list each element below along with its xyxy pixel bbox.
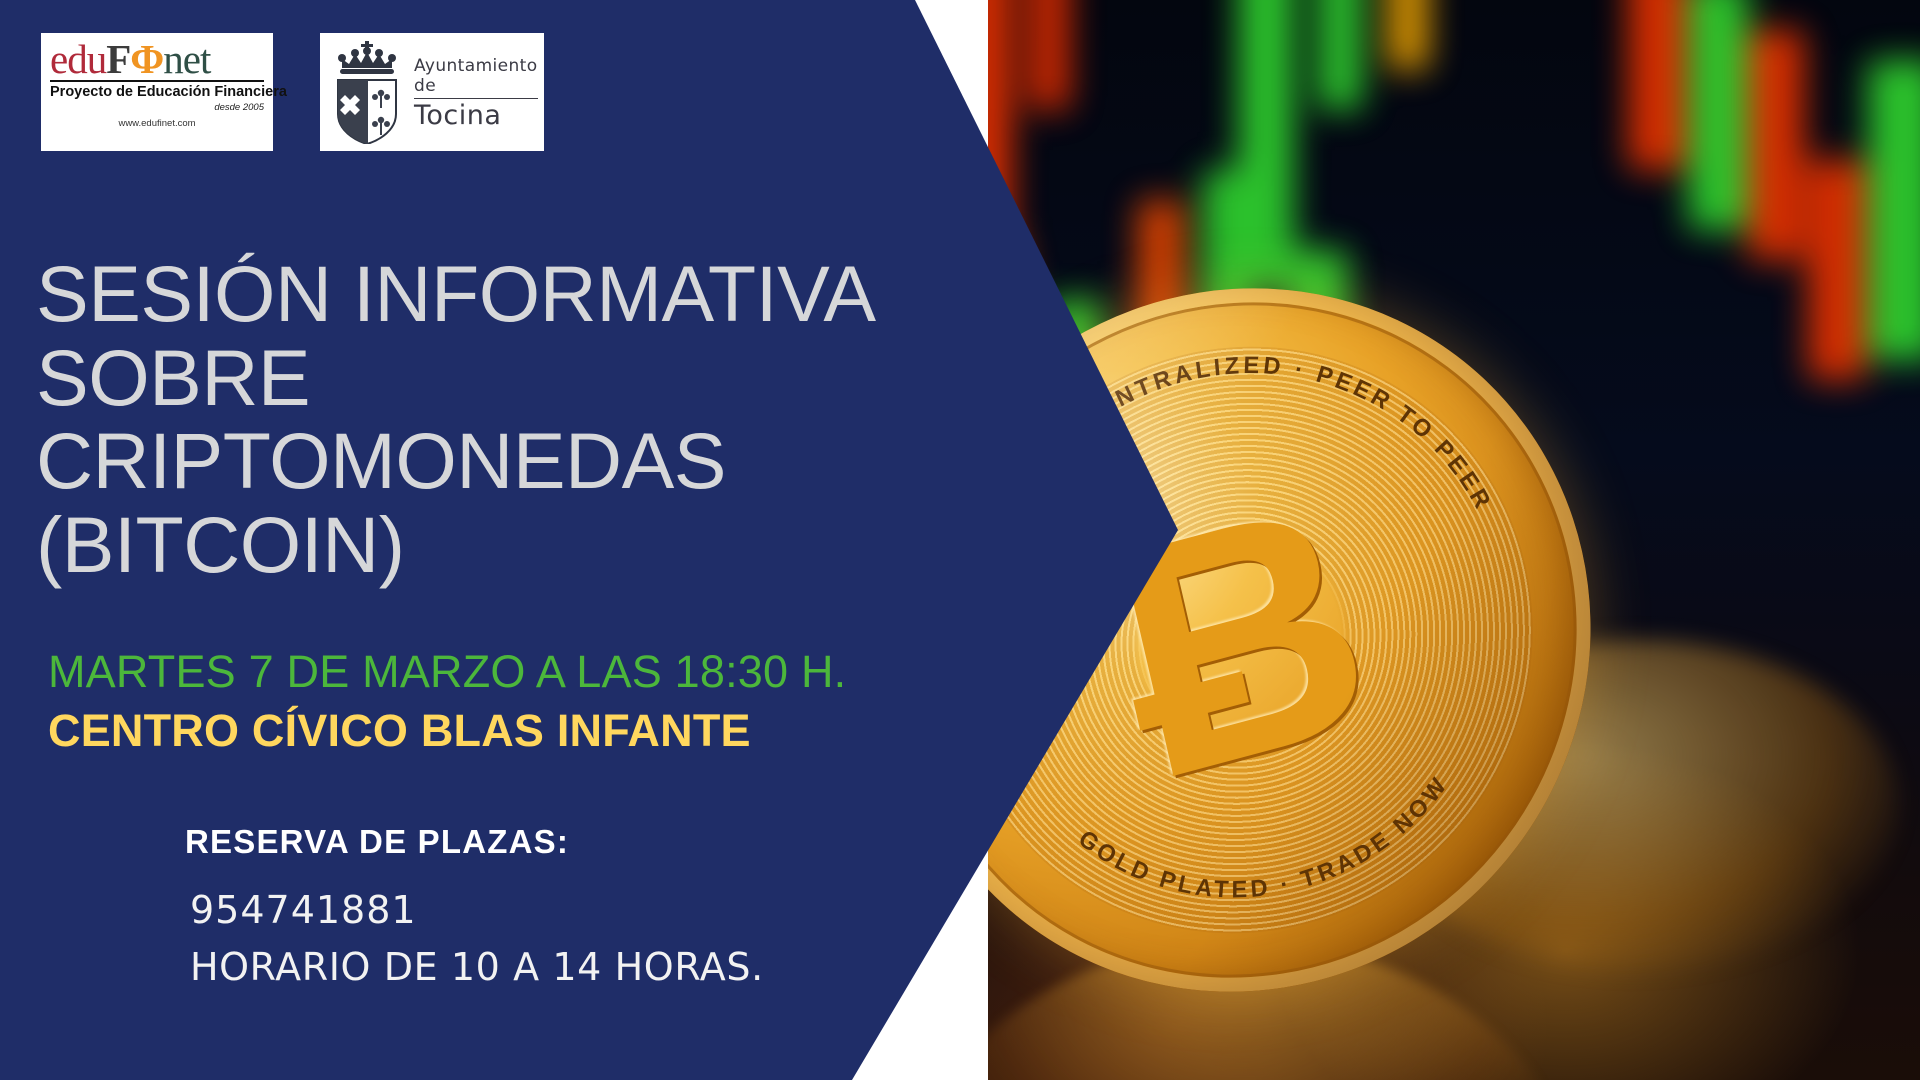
tocina-crest-icon [328, 40, 406, 144]
tocina-line-1: Ayuntamiento de [414, 56, 538, 96]
edufinet-f: F [106, 36, 130, 82]
reservation-hours: HORARIO DE 10 A 14 HORAS. [190, 945, 764, 989]
edufinet-edu: edu [50, 36, 106, 82]
reservation-heading: RESERVA DE PLAZAS: [185, 823, 569, 861]
edufinet-url: www.edufinet.com [50, 118, 264, 129]
ayuntamiento-de-tocina-logo: Ayuntamiento de Tocina [320, 33, 544, 151]
edufinet-subtitle: Proyecto de Educación Financiera [50, 84, 264, 101]
tocina-wordmark: Ayuntamiento de Tocina [414, 56, 538, 129]
edufinet-phi-icon: Φ [130, 36, 163, 82]
edufinet-divider [50, 80, 264, 82]
event-date-time: MARTES 7 DE MARZO A LAS 18:30 H. [48, 646, 846, 698]
edufinet-since: desde 2005 [50, 102, 264, 113]
logo-row: eduFΦnet Proyecto de Educación Financier… [41, 33, 544, 151]
page-title: SESIÓN INFORMATIVA SOBRE CRIPTOMONEDAS (… [36, 252, 936, 587]
edufinet-logo: eduFΦnet Proyecto de Educación Financier… [41, 33, 273, 151]
tocina-line-2: Tocina [414, 102, 538, 129]
edufinet-wordmark: eduFΦnet [50, 39, 264, 79]
tocina-divider [414, 98, 538, 99]
reservation-phone[interactable]: 954741881 [190, 888, 417, 932]
poster-canvas: DIGITAL · DECENTRALIZED · PEER TO PEER G… [0, 0, 1920, 1080]
edufinet-net: net [163, 36, 210, 82]
event-venue: CENTRO CÍVICO BLAS INFANTE [48, 705, 751, 757]
